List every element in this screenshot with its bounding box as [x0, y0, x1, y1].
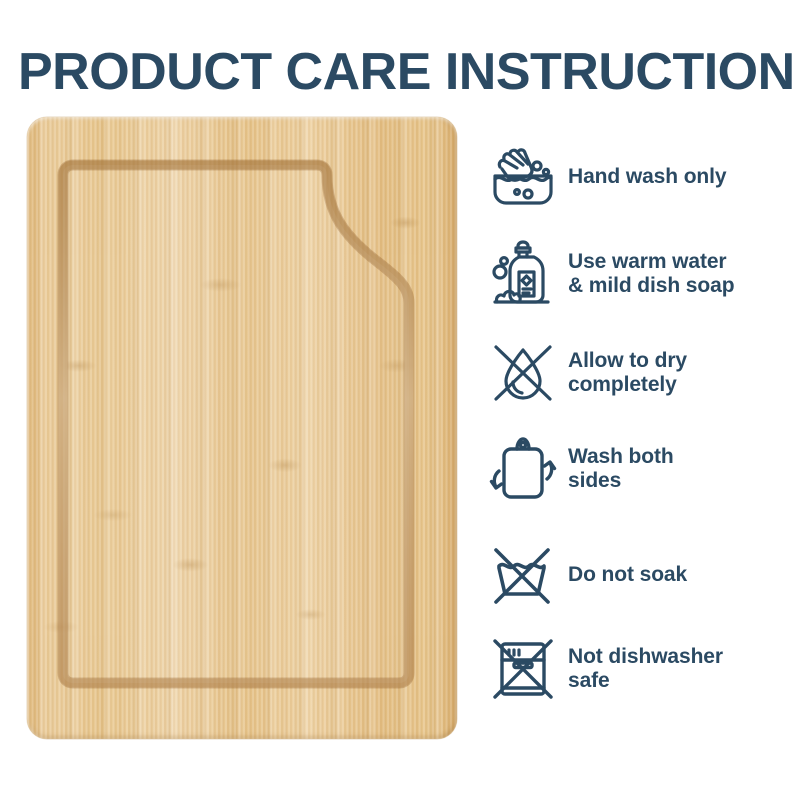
- no-water-droplet-icon: [486, 336, 560, 410]
- cutting-board-body: [27, 117, 457, 739]
- dish-soap-bottle-icon: [486, 237, 560, 311]
- no-dishwasher-icon: [486, 632, 560, 706]
- care-item-do-not-soak: Do not soak: [486, 538, 786, 612]
- care-item-label: Wash both sides: [560, 445, 674, 494]
- care-item-label: Not dishwasher safe: [560, 645, 723, 694]
- care-item-label: Use warm water & mild dish soap: [560, 250, 734, 299]
- wood-knot-marks: [27, 117, 457, 739]
- product-care-instruction-page: PRODUCT CARE INSTRUCTION: [0, 0, 800, 800]
- hand-wash-icon: [486, 140, 560, 214]
- no-soak-basin-icon: [486, 538, 560, 612]
- care-item-hand-wash-only: Hand wash only: [486, 140, 786, 214]
- care-item-warm-water-mild-soap: Use warm water & mild dish soap: [486, 237, 786, 311]
- care-item-not-dishwasher-safe: Not dishwasher safe: [486, 632, 786, 706]
- cutting-board-rotate-icon: [486, 432, 560, 506]
- page-title: PRODUCT CARE INSTRUCTION: [18, 44, 786, 100]
- product-image-bamboo-cutting-board: [27, 117, 457, 739]
- care-item-label: Hand wash only: [560, 165, 726, 189]
- care-item-label: Allow to dry completely: [560, 349, 687, 398]
- care-item-wash-both-sides: Wash both sides: [486, 432, 786, 506]
- care-item-label: Do not soak: [560, 563, 687, 587]
- care-item-allow-to-dry: Allow to dry completely: [486, 336, 786, 410]
